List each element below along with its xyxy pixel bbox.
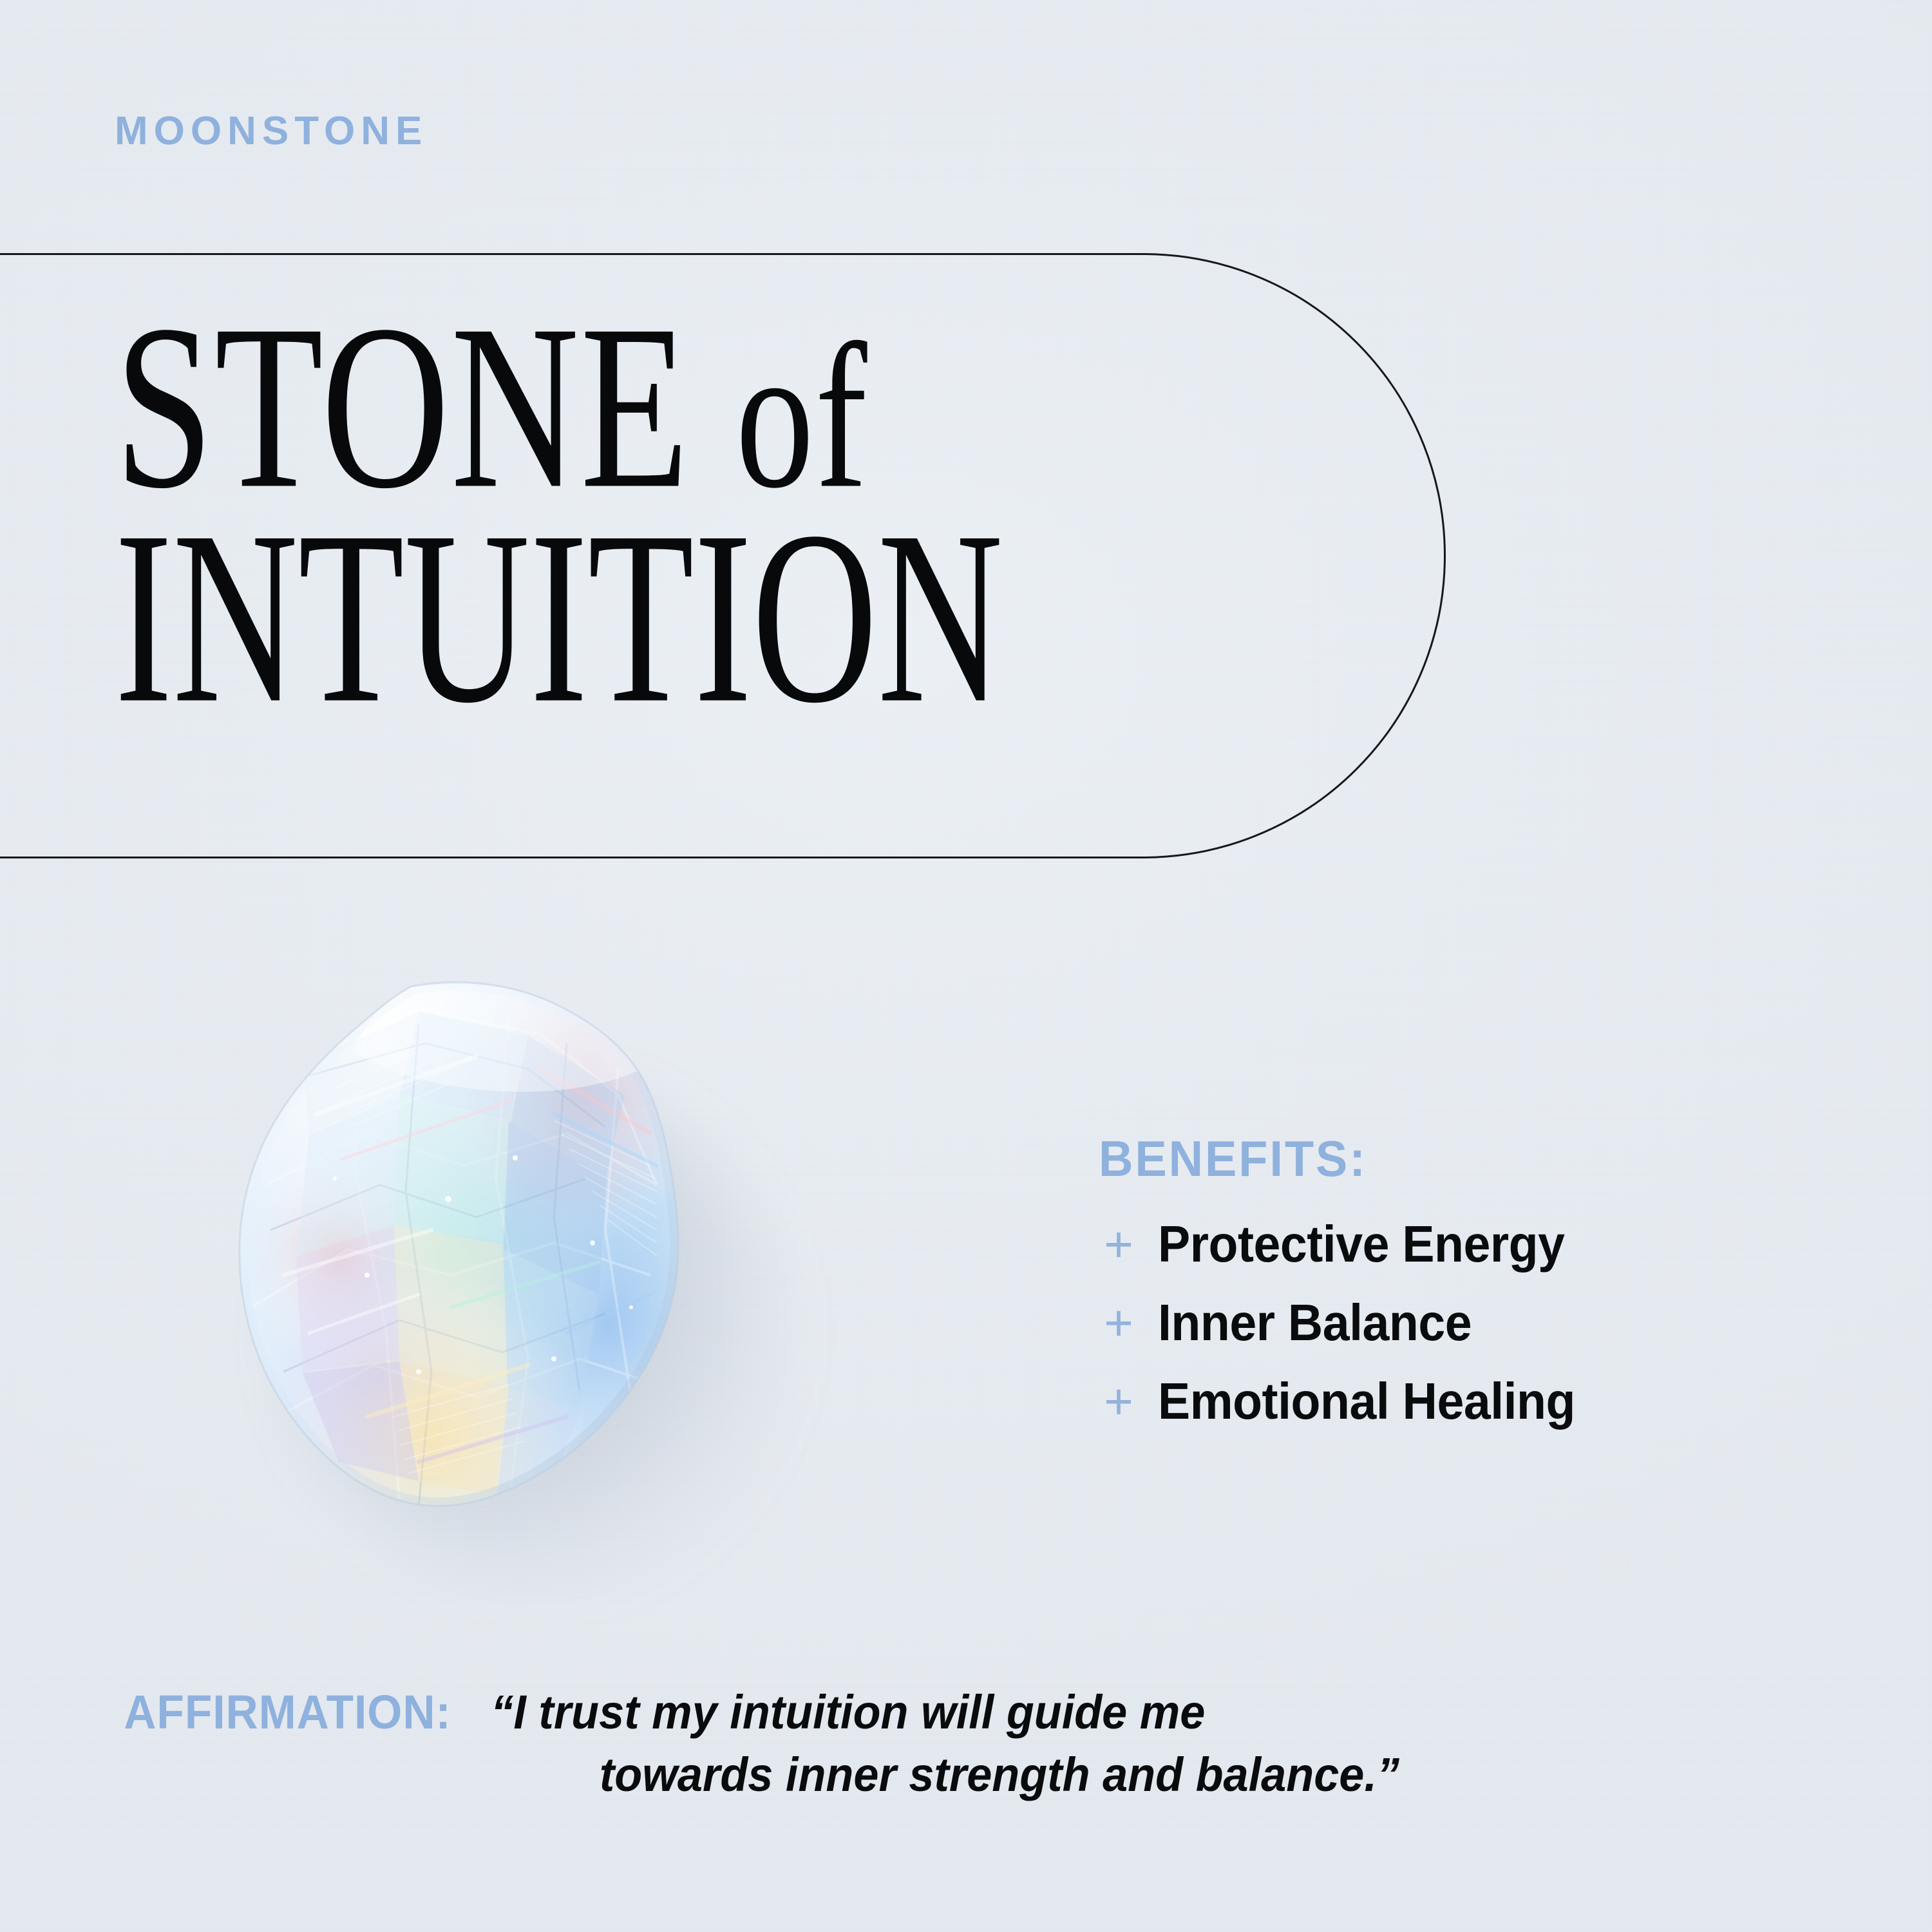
headline-word-intuition: INTUITION: [115, 496, 1216, 738]
affirmation-quote-line-1: “I trust my intuition will guide me: [491, 1686, 1205, 1739]
benefits-section: BENEFITS: + Protective Energy + Inner Ba…: [1099, 1133, 1859, 1453]
stone-name-eyebrow: MOONSTONE: [115, 111, 428, 151]
list-item: + Inner Balance: [1099, 1296, 1859, 1350]
page-title: STONE of INTUITION: [115, 291, 1338, 685]
affirmation-quote-line-2: towards inner strength and balance.”: [600, 1748, 1820, 1802]
affirmation-label: AFFIRMATION:: [124, 1686, 451, 1739]
benefit-label: Emotional Healing: [1158, 1374, 1575, 1428]
list-item: + Emotional Healing: [1099, 1374, 1859, 1428]
moonstone-image: [193, 966, 760, 1584]
benefits-heading: BENEFITS:: [1099, 1133, 1821, 1184]
plus-icon: +: [1099, 1298, 1139, 1348]
benefit-label: Protective Energy: [1158, 1217, 1564, 1271]
affirmation-section: AFFIRMATION: “I trust my intuition will …: [113, 1686, 1852, 1802]
plus-icon: +: [1099, 1376, 1139, 1426]
benefit-label: Inner Balance: [1158, 1296, 1472, 1350]
list-item: + Protective Energy: [1099, 1217, 1859, 1271]
affirmation-first-line: AFFIRMATION: “I trust my intuition will …: [113, 1686, 1852, 1739]
moonstone-crystal-illustration: [206, 972, 721, 1539]
benefits-list: + Protective Energy + Inner Balance + Em…: [1099, 1217, 1859, 1428]
crystal-info-card: MOONSTONE STONE of INTUITION: [0, 0, 1932, 1932]
plus-icon: +: [1099, 1219, 1139, 1269]
